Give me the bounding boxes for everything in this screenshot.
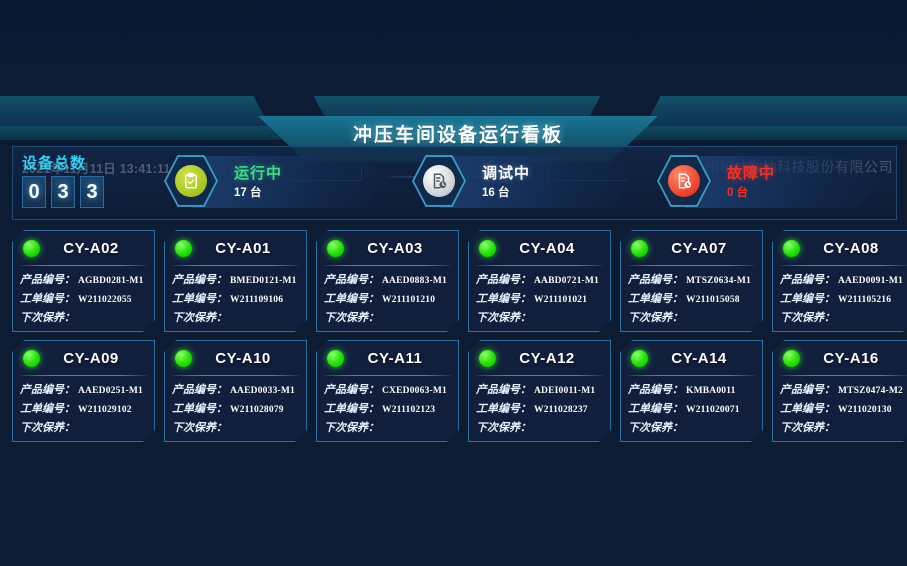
product-label: 产品编号： xyxy=(324,381,379,397)
total-digit-1: 3 xyxy=(51,176,75,208)
maintenance-row: 下次保养： xyxy=(628,419,755,438)
card-body: 产品编号：AAED0251-M1工单编号：W211029102下次保养： xyxy=(13,376,154,438)
maintenance-label: 下次保养： xyxy=(780,419,835,435)
equipment-name: CY-A03 xyxy=(344,240,452,257)
order-value: W211020130 xyxy=(838,405,892,415)
status-hex-running xyxy=(162,152,220,210)
status-led-icon xyxy=(631,350,648,367)
equipment-card[interactable]: CY-A02产品编号：AGBD0281-M1工单编号：W211022055下次保… xyxy=(12,230,155,332)
equipment-name: CY-A04 xyxy=(496,240,604,257)
order-label: 工单编号： xyxy=(476,400,531,416)
page-title: 冲压车间设备运行看板 xyxy=(258,120,658,147)
product-row: 产品编号：MTSZ0634-M1 xyxy=(628,271,755,290)
order-value: W211029102 xyxy=(78,405,132,415)
order-label: 工单编号： xyxy=(628,400,683,416)
product-label: 产品编号： xyxy=(628,271,683,287)
equipment-card[interactable]: CY-A14产品编号：KMBA0011工单编号：W211020071下次保养： xyxy=(620,340,763,442)
product-value: MTSZ0474-M2 xyxy=(838,386,903,396)
order-label: 工单编号： xyxy=(476,290,531,306)
product-row: 产品编号：AABD0721-M1 xyxy=(476,271,603,290)
order-label: 工单编号： xyxy=(780,290,835,306)
order-value: W211022055 xyxy=(78,295,132,305)
order-row: 工单编号：W211029102 xyxy=(20,400,147,419)
product-label: 产品编号： xyxy=(476,271,531,287)
maintenance-row: 下次保养： xyxy=(780,419,907,438)
maintenance-label: 下次保养： xyxy=(324,419,379,435)
maintenance-label: 下次保养： xyxy=(172,309,227,325)
status-led-icon xyxy=(175,240,192,257)
document-clock-icon xyxy=(423,165,455,197)
status-count-fault: 0 台 xyxy=(727,184,748,200)
status-led-icon xyxy=(175,350,192,367)
product-value: ADEI0011-M1 xyxy=(534,386,595,396)
card-header: CY-A16 xyxy=(773,341,907,375)
status-item-debugging[interactable]: 调试中 16 台 xyxy=(410,152,640,212)
product-label: 产品编号： xyxy=(172,381,227,397)
maintenance-label: 下次保养： xyxy=(20,309,75,325)
status-led-icon xyxy=(23,350,40,367)
order-value: W211105216 xyxy=(838,295,891,305)
card-header: CY-A14 xyxy=(621,341,762,375)
card-header: CY-A10 xyxy=(165,341,306,375)
maintenance-row: 下次保养： xyxy=(172,309,299,328)
card-body: 产品编号：AAED0033-M1工单编号：W211028079下次保养： xyxy=(165,376,306,438)
card-body: 产品编号：ADEI0011-M1工单编号：W211028237下次保养： xyxy=(469,376,610,438)
order-row: 工单编号：W211105216 xyxy=(780,290,907,309)
status-label-running: 运行中 xyxy=(234,162,282,183)
maintenance-label: 下次保养： xyxy=(172,419,227,435)
product-row: 产品编号：AAED0251-M1 xyxy=(20,381,147,400)
maintenance-label: 下次保养： xyxy=(780,309,835,325)
order-label: 工单编号： xyxy=(172,400,227,416)
order-row: 工单编号：W211022055 xyxy=(20,290,147,309)
order-label: 工单编号： xyxy=(324,400,379,416)
equipment-card[interactable]: CY-A11产品编号：CXED0063-M1工单编号：W211102123下次保… xyxy=(316,340,459,442)
clipboard-check-icon xyxy=(175,165,207,197)
maintenance-label: 下次保养： xyxy=(628,419,683,435)
product-row: 产品编号：AAED0883-M1 xyxy=(324,271,451,290)
card-body: 产品编号：AABD0721-M1工单编号：W211101021下次保养： xyxy=(469,266,610,328)
total-devices-counter: 0 3 3 xyxy=(22,176,104,208)
equipment-card-grid: CY-A02产品编号：AGBD0281-M1工单编号：W211022055下次保… xyxy=(12,230,895,442)
product-value: KMBA0011 xyxy=(686,386,736,396)
order-row: 工单编号：W211101210 xyxy=(324,290,451,309)
equipment-card[interactable]: CY-A16产品编号：MTSZ0474-M2工单编号：W211020130下次保… xyxy=(772,340,907,442)
status-hex-fault xyxy=(655,152,713,210)
product-row: 产品编号：AAED0033-M1 xyxy=(172,381,299,400)
product-label: 产品编号： xyxy=(324,271,379,287)
maintenance-row: 下次保养： xyxy=(20,419,147,438)
status-led-icon xyxy=(479,240,496,257)
order-label: 工单编号： xyxy=(20,400,75,416)
product-value: MTSZ0634-M1 xyxy=(686,276,751,286)
order-label: 工单编号： xyxy=(628,290,683,306)
order-row: 工单编号：W211020130 xyxy=(780,400,907,419)
equipment-card[interactable]: CY-A09产品编号：AAED0251-M1工单编号：W211029102下次保… xyxy=(12,340,155,442)
maintenance-label: 下次保养： xyxy=(476,309,531,325)
maintenance-row: 下次保养： xyxy=(780,309,907,328)
product-row: 产品编号：AAED0091-M1 xyxy=(780,271,907,290)
product-row: 产品编号：AGBD0281-M1 xyxy=(20,271,147,290)
equipment-name: CY-A14 xyxy=(648,350,756,367)
maintenance-row: 下次保养： xyxy=(324,419,451,438)
total-devices-label: 设备总数 xyxy=(22,152,86,173)
status-plate-fault xyxy=(685,156,881,208)
status-led-icon xyxy=(479,350,496,367)
equipment-card[interactable]: CY-A01产品编号：BMED0121-M1工单编号：W211109106下次保… xyxy=(164,230,307,332)
equipment-name: CY-A10 xyxy=(192,350,300,367)
order-row: 工单编号：W211028237 xyxy=(476,400,603,419)
maintenance-row: 下次保养： xyxy=(172,419,299,438)
order-row: 工单编号：W211109106 xyxy=(172,290,299,309)
maintenance-label: 下次保养： xyxy=(324,309,379,325)
maintenance-label: 下次保养： xyxy=(476,419,531,435)
card-header: CY-A04 xyxy=(469,231,610,265)
product-label: 产品编号： xyxy=(20,271,75,287)
status-led-icon xyxy=(327,240,344,257)
order-value: W211109106 xyxy=(230,295,283,305)
product-label: 产品编号： xyxy=(476,381,531,397)
card-body: 产品编号：AAED0091-M1工单编号：W211105216下次保养： xyxy=(773,266,907,328)
card-header: CY-A01 xyxy=(165,231,306,265)
status-item-fault[interactable]: 故障中 0 台 xyxy=(655,152,885,212)
equipment-name: CY-A12 xyxy=(496,350,604,367)
card-body: 产品编号：BMED0121-M1工单编号：W211109106下次保养： xyxy=(165,266,306,328)
product-label: 产品编号： xyxy=(628,381,683,397)
top-background-strip xyxy=(0,0,907,58)
status-plate-running xyxy=(192,156,388,208)
product-row: 产品编号：MTSZ0474-M2 xyxy=(780,381,907,400)
order-row: 工单编号：W211015058 xyxy=(628,290,755,309)
product-value: BMED0121-M1 xyxy=(230,276,297,286)
maintenance-row: 下次保养： xyxy=(476,309,603,328)
maintenance-label: 下次保养： xyxy=(628,309,683,325)
maintenance-row: 下次保养： xyxy=(324,309,451,328)
maintenance-row: 下次保养： xyxy=(20,309,147,328)
card-header: CY-A12 xyxy=(469,341,610,375)
order-value: W211015058 xyxy=(686,295,740,305)
equipment-name: CY-A07 xyxy=(648,240,756,257)
card-body: 产品编号：AAED0883-M1工单编号：W211101210下次保养： xyxy=(317,266,458,328)
product-label: 产品编号： xyxy=(20,381,75,397)
product-value: AGBD0281-M1 xyxy=(78,276,144,286)
card-body: 产品编号：MTSZ0634-M1工单编号：W211015058下次保养： xyxy=(621,266,762,328)
total-digit-2: 3 xyxy=(80,176,104,208)
order-value: W211102123 xyxy=(382,405,435,415)
equipment-card[interactable]: CY-A08产品编号：AAED0091-M1工单编号：W211105216下次保… xyxy=(772,230,907,332)
equipment-card[interactable]: CY-A10产品编号：AAED0033-M1工单编号：W211028079下次保… xyxy=(164,340,307,442)
product-value: AAED0033-M1 xyxy=(230,386,295,396)
status-led-icon xyxy=(327,350,344,367)
order-row: 工单编号：W211028079 xyxy=(172,400,299,419)
order-value: W211101210 xyxy=(382,295,435,305)
product-row: 产品编号：KMBA0011 xyxy=(628,381,755,400)
order-value: W211020071 xyxy=(686,405,740,415)
page-header: 冲压车间设备运行看板 2021年11月11日 13:41:11 星期四 苏州和林… xyxy=(0,58,907,140)
equipment-card[interactable]: CY-A04产品编号：AABD0721-M1工单编号：W211101021下次保… xyxy=(468,230,611,332)
card-header: CY-A09 xyxy=(13,341,154,375)
order-row: 工单编号：W211102123 xyxy=(324,400,451,419)
order-value: W211101021 xyxy=(534,295,587,305)
order-row: 工单编号：W211101021 xyxy=(476,290,603,309)
maintenance-label: 下次保养： xyxy=(20,419,75,435)
equipment-card[interactable]: CY-A07产品编号：MTSZ0634-M1工单编号：W211015058下次保… xyxy=(620,230,763,332)
card-body: 产品编号：KMBA0011工单编号：W211020071下次保养： xyxy=(621,376,762,438)
order-row: 工单编号：W211020071 xyxy=(628,400,755,419)
order-value: W211028237 xyxy=(534,405,588,415)
status-led-icon xyxy=(23,240,40,257)
card-header: CY-A02 xyxy=(13,231,154,265)
card-header: CY-A07 xyxy=(621,231,762,265)
status-count-running: 17 台 xyxy=(234,184,262,200)
order-label: 工单编号： xyxy=(20,290,75,306)
card-body: 产品编号：MTSZ0474-M2工单编号：W211020130下次保养： xyxy=(773,376,907,438)
order-label: 工单编号： xyxy=(324,290,379,306)
product-label: 产品编号： xyxy=(780,271,835,287)
card-header: CY-A03 xyxy=(317,231,458,265)
equipment-name: CY-A02 xyxy=(40,240,148,257)
maintenance-row: 下次保养： xyxy=(476,419,603,438)
equipment-name: CY-A01 xyxy=(192,240,300,257)
order-label: 工单编号： xyxy=(172,290,227,306)
card-body: 产品编号：AGBD0281-M1工单编号：W211022055下次保养： xyxy=(13,266,154,328)
status-led-icon xyxy=(783,240,800,257)
status-label-fault: 故障中 xyxy=(727,162,775,183)
order-value: W211028079 xyxy=(230,405,284,415)
equipment-card[interactable]: CY-A12产品编号：ADEI0011-M1工单编号：W211028237下次保… xyxy=(468,340,611,442)
status-plate-debugging xyxy=(440,156,636,208)
order-label: 工单编号： xyxy=(780,400,835,416)
equipment-name: CY-A09 xyxy=(40,350,148,367)
status-label-debugging: 调试中 xyxy=(482,162,530,183)
product-value: AAED0883-M1 xyxy=(382,276,447,286)
product-value: AAED0091-M1 xyxy=(838,276,903,286)
status-led-icon xyxy=(631,240,648,257)
product-row: 产品编号：BMED0121-M1 xyxy=(172,271,299,290)
card-body: 产品编号：CXED0063-M1工单编号：W211102123下次保养： xyxy=(317,376,458,438)
product-label: 产品编号： xyxy=(780,381,835,397)
product-label: 产品编号： xyxy=(172,271,227,287)
equipment-name: CY-A11 xyxy=(344,350,452,367)
status-count-debugging: 16 台 xyxy=(482,184,510,200)
total-digit-0: 0 xyxy=(22,176,46,208)
product-value: AAED0251-M1 xyxy=(78,386,143,396)
status-led-icon xyxy=(783,350,800,367)
equipment-name: CY-A16 xyxy=(800,350,907,367)
equipment-name: CY-A08 xyxy=(800,240,907,257)
equipment-card[interactable]: CY-A03产品编号：AAED0883-M1工单编号：W211101210下次保… xyxy=(316,230,459,332)
document-alert-icon xyxy=(668,165,700,197)
product-row: 产品编号：ADEI0011-M1 xyxy=(476,381,603,400)
status-item-running[interactable]: 运行中 17 台 xyxy=(162,152,392,212)
product-value: AABD0721-M1 xyxy=(534,276,599,286)
card-header: CY-A08 xyxy=(773,231,907,265)
product-row: 产品编号：CXED0063-M1 xyxy=(324,381,451,400)
card-header: CY-A11 xyxy=(317,341,458,375)
status-hex-debugging xyxy=(410,152,468,210)
maintenance-row: 下次保养： xyxy=(628,309,755,328)
product-value: CXED0063-M1 xyxy=(382,386,447,396)
